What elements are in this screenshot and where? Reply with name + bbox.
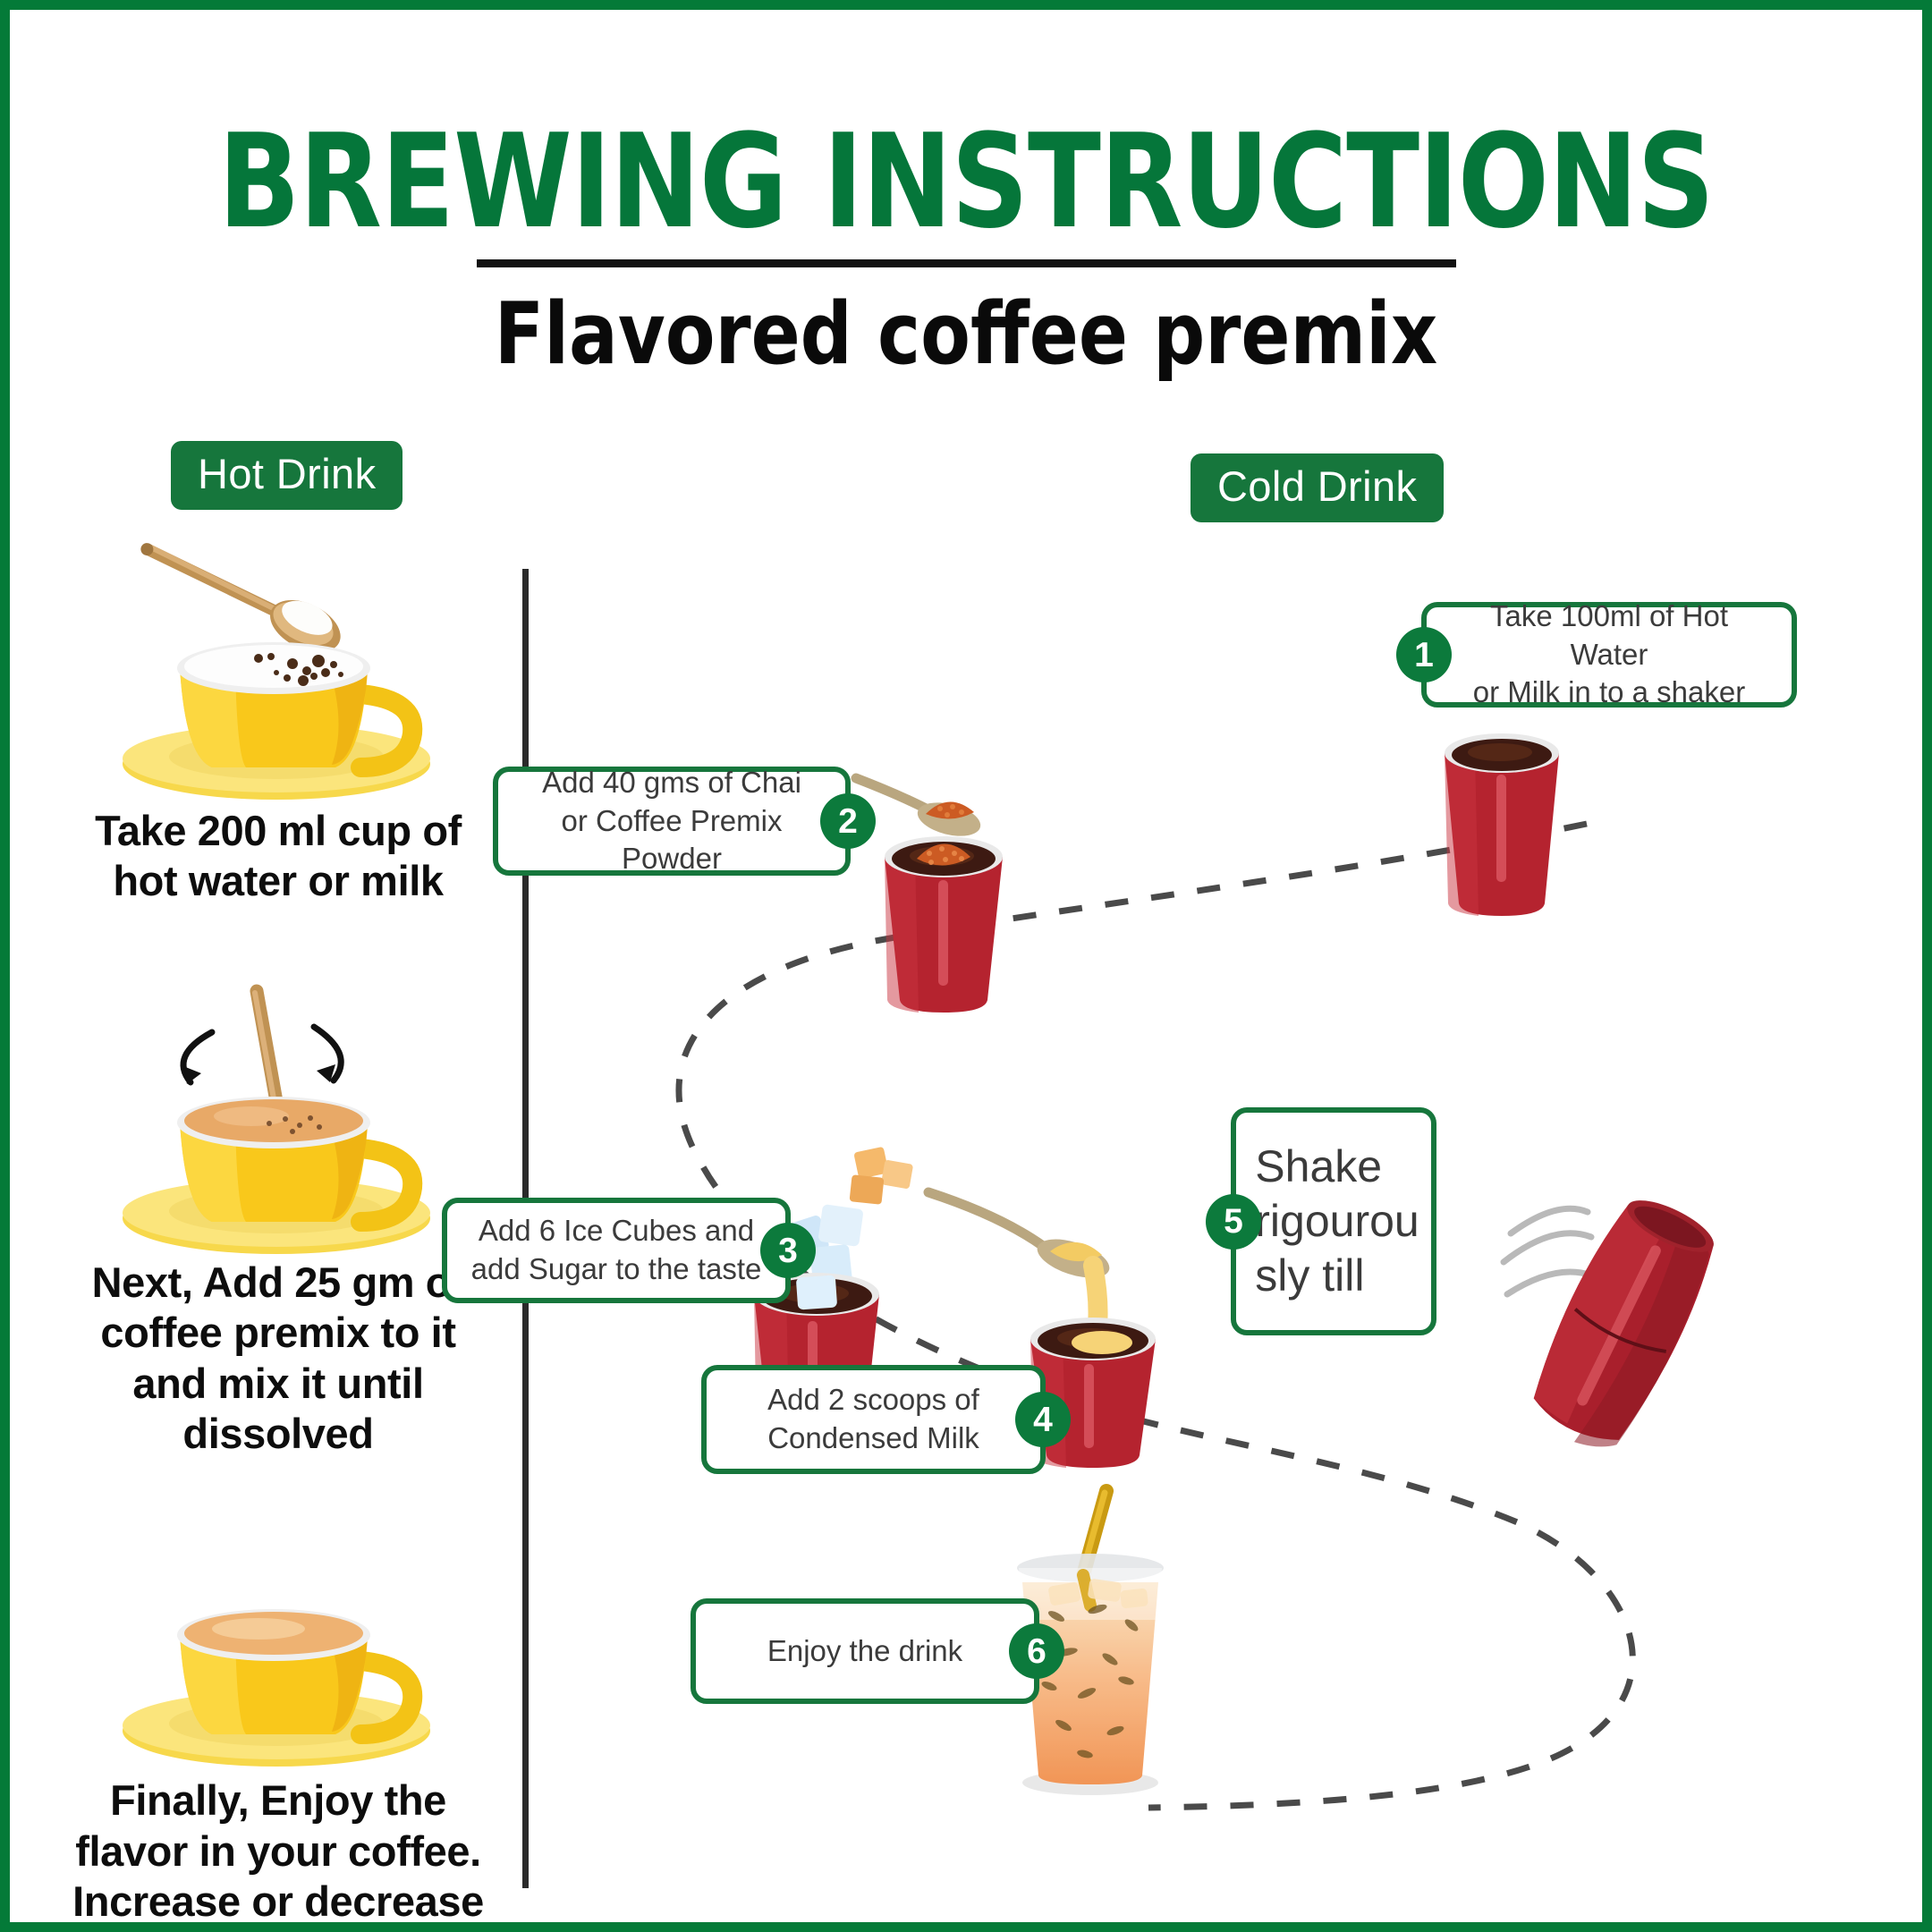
cold-step-5-number: 5 — [1206, 1194, 1261, 1250]
cold-step-3-callout: Add 6 Ice Cubes and add Sugar to the tas… — [442, 1198, 791, 1303]
cold-step-1-callout: 1 Take 100ml of Hot Water or Milk in to … — [1421, 602, 1797, 708]
red-shaker-cup-with-premix-spoon-icon — [840, 748, 1108, 1021]
page-subtitle: Flavored coffee premix — [57, 285, 1874, 384]
hot-drink-badge: Hot Drink — [171, 441, 402, 510]
cold-step-2-number: 2 — [820, 793, 876, 849]
cold-drink-badge: Cold Drink — [1191, 453, 1444, 522]
cold-step-2-callout: Add 40 gms of Chai or Coffee Premix Powd… — [493, 767, 851, 876]
cold-step-5-callout: 5 Shake rigourou sly till — [1231, 1107, 1436, 1335]
hot-drink-column: Take 200 ml cup of hot water or milk — [46, 511, 511, 1932]
cold-step-1-number: 1 — [1396, 627, 1452, 682]
cold-step-2-text: Add 40 gms of Chai or Coffee Premix Powd… — [498, 757, 845, 886]
cold-step-6-number: 6 — [1009, 1623, 1064, 1679]
header: BREWING INSTRUCTIONS Flavored coffee pre… — [10, 117, 1922, 384]
cup-being-stirred-icon — [46, 962, 511, 1258]
hot-step-2: Next, Add 25 gm of coffee premix to it a… — [46, 962, 511, 1460]
page-title: BREWING INSTRUCTIONS — [87, 117, 1846, 247]
cold-step-6-text: Enjoy the drink — [744, 1625, 986, 1678]
cold-drink-column: 1 Take 100ml of Hot Water or Milk in to … — [522, 555, 1932, 1897]
cold-step-4-callout: Add 2 scoops of Condensed Milk 4 — [701, 1365, 1046, 1474]
cold-step-3-number: 3 — [760, 1223, 816, 1278]
infographic-poster: BREWING INSTRUCTIONS Flavored coffee pre… — [0, 0, 1932, 1932]
hot-step-3: Finally, Enjoy the flavor in your coffee… — [46, 1507, 511, 1932]
cup-with-spoon-of-powder-icon — [46, 511, 511, 806]
hot-step-2-caption: Next, Add 25 gm of coffee premix to it a… — [46, 1258, 511, 1460]
cold-step-4-text: Add 2 scoops of Condensed Milk — [744, 1374, 1003, 1465]
red-shaker-cup-with-liquid-icon — [1412, 721, 1591, 949]
cold-step-1-text: Take 100ml of Hot Water or Milk in to a … — [1427, 590, 1792, 720]
title-underline — [477, 259, 1456, 267]
hot-step-1-caption: Take 200 ml cup of hot water or milk — [46, 806, 511, 907]
cold-step-4-number: 4 — [1015, 1392, 1071, 1447]
finished-coffee-cup-icon — [46, 1507, 511, 1775]
cold-step-6-callout: Enjoy the drink 6 — [691, 1598, 1039, 1704]
cold-step-3-text: Add 6 Ice Cubes and add Sugar to the tas… — [448, 1205, 785, 1296]
tilted-red-shaker-bottle-shaking-icon — [1484, 1128, 1734, 1490]
hot-step-3-caption: Finally, Enjoy the flavor in your coffee… — [46, 1775, 511, 1932]
hot-step-1: Take 200 ml cup of hot water or milk — [46, 511, 511, 907]
